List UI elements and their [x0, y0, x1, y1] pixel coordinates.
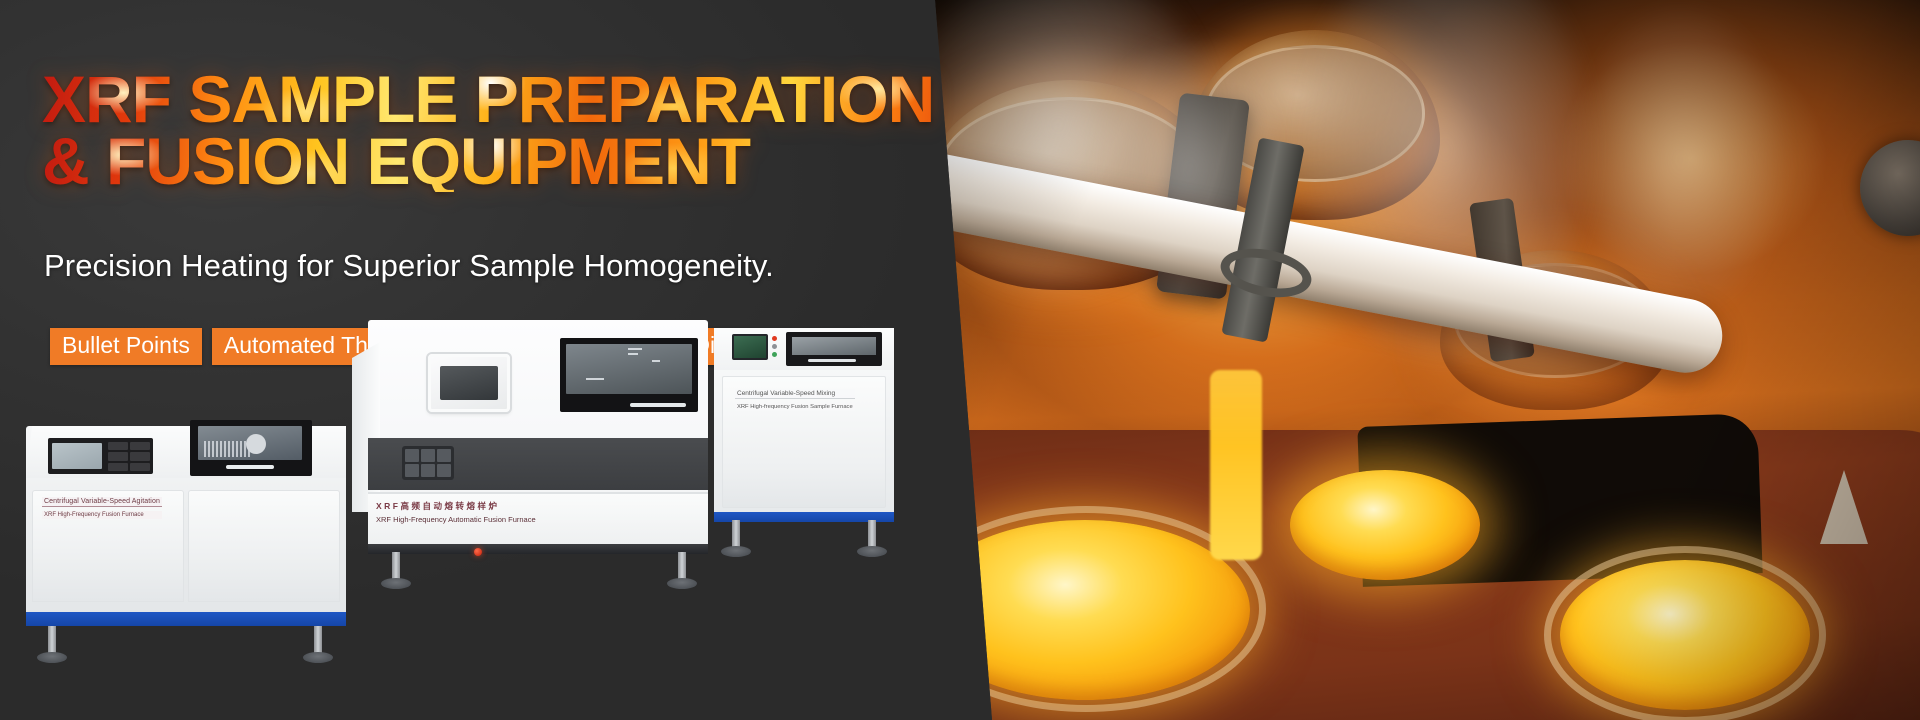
- headline-subtitle: Precision Heating for Superior Sample Ho…: [44, 248, 774, 284]
- machine-a-label-secondary: XRF High-Frequency Fusion Furnace: [42, 511, 162, 519]
- machine-b-furnace-chamber[interactable]: [560, 338, 698, 412]
- chamber-fins: [204, 441, 250, 457]
- machine-a-foot: [48, 626, 56, 656]
- machine-c-viewing-window: [792, 337, 876, 355]
- headline-block: XRF SAMPLE PREPARATION & FUSION EQUIPMEN…: [42, 68, 1062, 192]
- keypad-key[interactable]: [108, 442, 128, 450]
- machine-b-label-primary: XRF高频自动熔转熔样炉: [376, 500, 556, 512]
- machine-c-foot: [868, 520, 876, 550]
- machine-a-door-handle[interactable]: [226, 465, 274, 469]
- product-centrifugal-mixing-sample-furnace[interactable]: Centrifugal Variable-Speed Mixing XRF Hi…: [706, 314, 902, 546]
- machine-a-display-screen: [52, 443, 102, 469]
- machine-b-door-handle[interactable]: [630, 403, 686, 407]
- machine-b-base-stripe: [368, 544, 708, 554]
- product-centrifugal-agitation-furnace[interactable]: Centrifugal Variable-Speed Agitation XRF…: [14, 398, 358, 666]
- machine-c-top-panel: [714, 328, 894, 370]
- machine-c-door-handle[interactable]: [808, 359, 856, 362]
- machine-b-foot: [392, 552, 400, 582]
- machine-a-label-primary: Centrifugal Variable-Speed Agitation: [42, 497, 162, 507]
- keypad-key[interactable]: [130, 452, 150, 460]
- machine-b-display-screen: [440, 366, 498, 400]
- keypad-key[interactable]: [130, 442, 150, 450]
- hero-banner: XRF SAMPLE PREPARATION & FUSION EQUIPMEN…: [0, 0, 1920, 720]
- machine-b-label-secondary: XRF High-Frequency Automatic Fusion Furn…: [376, 515, 556, 524]
- machine-c-label-primary: Centrifugal Variable-Speed Mixing: [735, 389, 855, 399]
- machine-c-label-secondary: XRF High-frequency Fusion Sample Furnace: [735, 403, 855, 411]
- machine-b-foot: [678, 552, 686, 582]
- headline-line-2: & FUSION EQUIPMENT: [42, 130, 1062, 192]
- keypad-key[interactable]: [421, 464, 435, 477]
- machine-b-nameplate: XRF高频自动熔转熔样炉 XRF High-Frequency Automati…: [376, 500, 556, 524]
- indicator-red: [772, 336, 777, 341]
- machine-a-foot: [314, 626, 322, 656]
- machine-c-front-door[interactable]: Centrifugal Variable-Speed Mixing XRF Hi…: [722, 376, 886, 508]
- keypad-key[interactable]: [405, 464, 419, 477]
- keypad-key[interactable]: [130, 463, 150, 471]
- keypad-key[interactable]: [437, 449, 451, 462]
- indicator-green: [772, 352, 777, 357]
- keypad-key[interactable]: [108, 463, 128, 471]
- chamber-disc: [246, 434, 266, 454]
- machine-a-control-panel[interactable]: [48, 438, 153, 474]
- indicator-grey: [772, 344, 777, 349]
- machine-c-display-screen: [732, 334, 768, 360]
- machine-b-touchscreen[interactable]: [428, 354, 510, 412]
- product-automatic-fusion-furnace[interactable]: XRF高频自动熔转熔样炉 XRF High-Frequency Automati…: [352, 320, 708, 596]
- keypad-key[interactable]: [405, 449, 419, 462]
- keypad-key[interactable]: [437, 464, 451, 477]
- machine-a-nameplate: Centrifugal Variable-Speed Agitation XRF…: [42, 497, 162, 519]
- machine-a-viewing-window: [198, 426, 302, 460]
- machine-a-furnace-chamber[interactable]: [190, 420, 312, 476]
- machine-c-nameplate: Centrifugal Variable-Speed Mixing XRF Hi…: [735, 389, 855, 411]
- machine-c-foot: [732, 520, 740, 550]
- machine-b-viewing-window: [566, 344, 692, 394]
- keypad-key[interactable]: [421, 449, 435, 462]
- machine-a-keypad[interactable]: [108, 442, 150, 471]
- machine-c-furnace-chamber[interactable]: [786, 332, 882, 366]
- machine-c-indicator-lights: [772, 336, 777, 357]
- keypad-key[interactable]: [108, 452, 128, 460]
- machine-a-door-right[interactable]: [188, 490, 340, 602]
- machine-b-power-indicator: [474, 548, 482, 556]
- headline-line-1: XRF SAMPLE PREPARATION: [42, 68, 1062, 130]
- machine-a-base-stripe: [26, 612, 346, 626]
- machine-c-base-stripe: [714, 512, 894, 522]
- machine-b-keypad[interactable]: [402, 446, 454, 480]
- feature-tag-bullet-points[interactable]: Bullet Points: [50, 328, 202, 365]
